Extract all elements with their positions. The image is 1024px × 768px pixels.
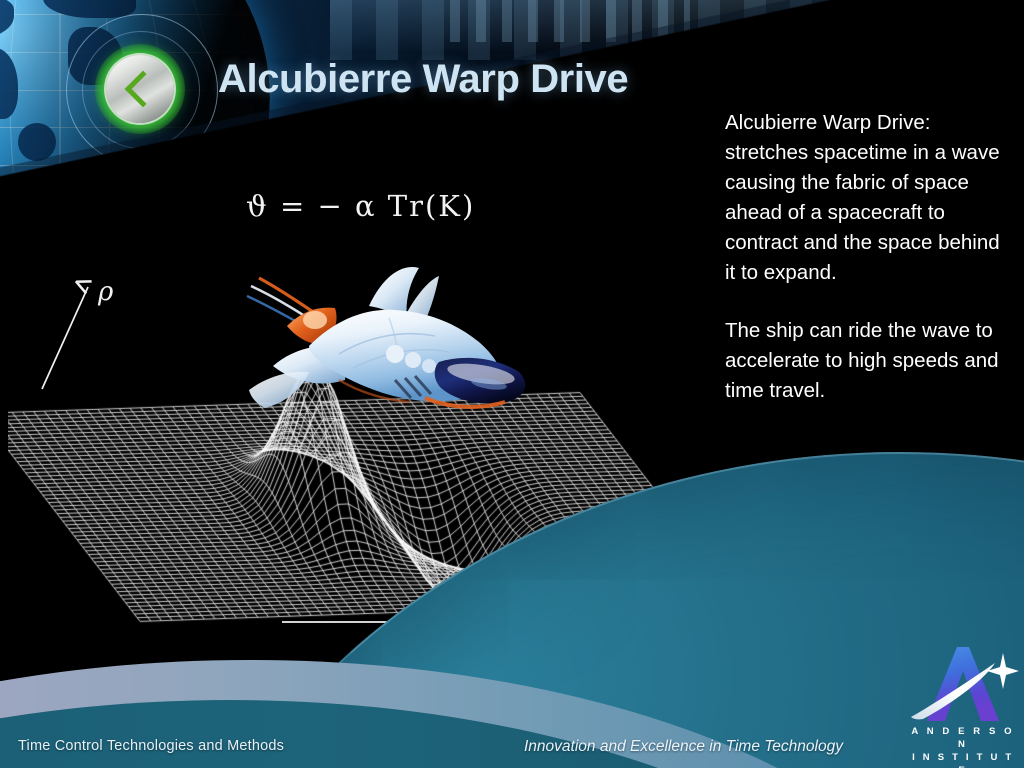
footer-left-text: Time Control Technologies and Methods [18, 738, 284, 754]
logo-wordmark: A N D E R S O N I N S T I T U T E [907, 725, 1019, 768]
page-title: Alcubierre Warp Drive [218, 57, 628, 102]
rho-axis-label: ρ [98, 277, 113, 307]
body-paragraph-2: The ship can ride the wave to accelerate… [725, 316, 1005, 406]
body-text-block: Alcubierre Warp Drive: stretches spaceti… [725, 108, 1005, 406]
ship-left-wingtip [249, 372, 309, 408]
body-paragraph-1: Alcubierre Warp Drive: stretches spaceti… [725, 108, 1005, 288]
presentation-slide: Alcubierre Warp Drive ϑ = − α Tr(K) Alcu… [0, 0, 1024, 768]
equation: ϑ = − α Tr(K) [246, 189, 475, 223]
footer-tagline: Innovation and Excellence in Time Techno… [524, 738, 843, 756]
back-button[interactable] [95, 44, 185, 134]
logo-line-2: I N S T I T U T E [907, 751, 1019, 768]
logo-line-1: A N D E R S O N [907, 725, 1019, 751]
chevron-left-icon [124, 71, 161, 108]
spacecraft-graphic [243, 262, 555, 430]
anderson-institute-logo: A N D E R S O N I N S T I T U T E [907, 645, 1019, 757]
back-button-disc [106, 55, 174, 123]
anderson-a-swoosh-star-icon [907, 645, 1019, 723]
